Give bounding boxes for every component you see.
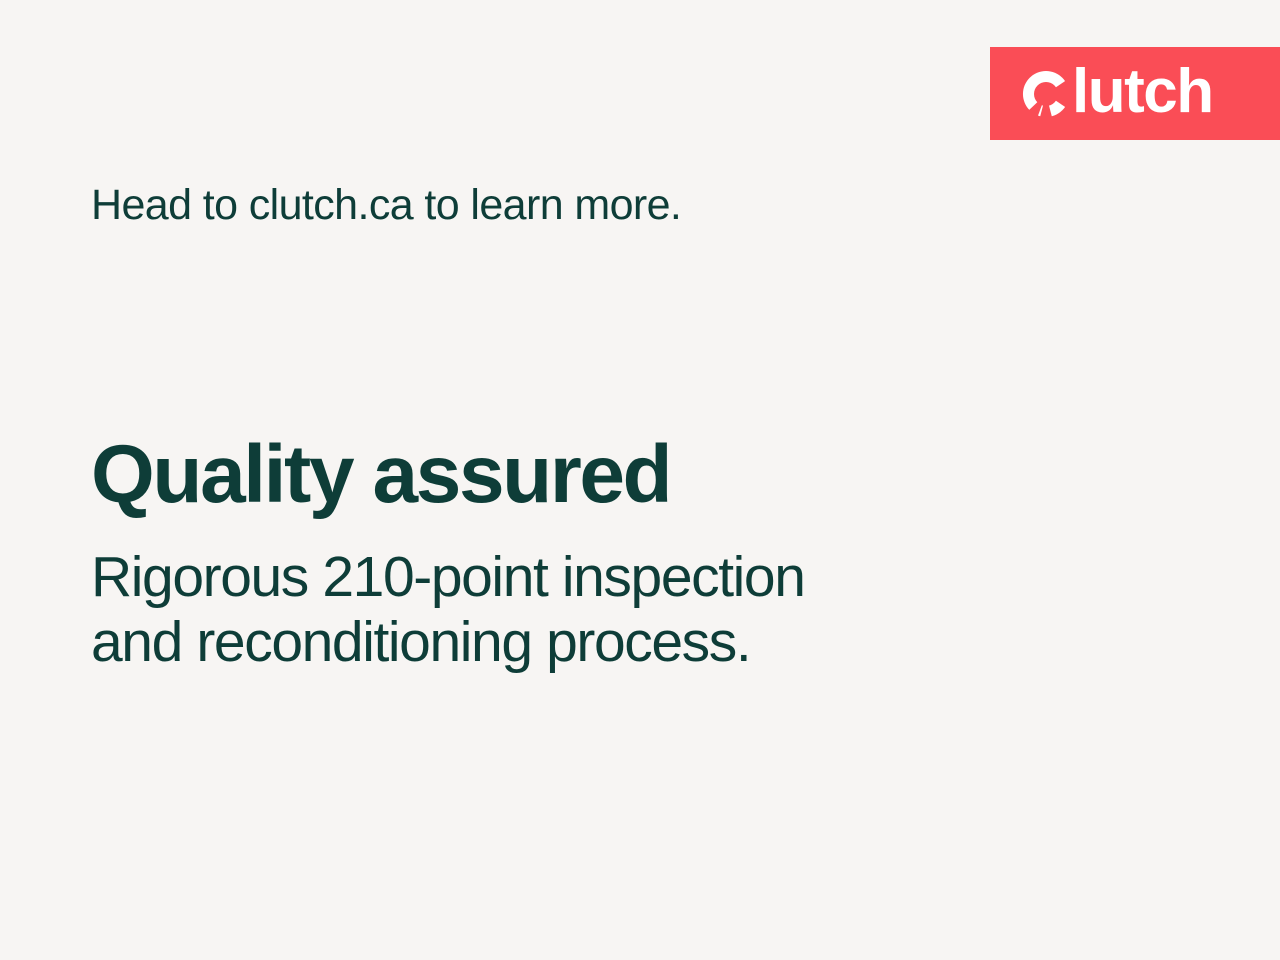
subcopy-line-1: Rigorous 210-point inspection bbox=[91, 545, 805, 610]
clutch-logo-text: lutch bbox=[1072, 61, 1213, 123]
page-title: Quality assured bbox=[91, 432, 670, 518]
kicker-text: Head to clutch.ca to learn more. bbox=[91, 181, 681, 230]
slide-canvas: lutch Head to clutch.ca to learn more. Q… bbox=[0, 0, 1280, 960]
clutch-c-mark-icon bbox=[1022, 70, 1070, 118]
subcopy-line-2: and reconditioning process. bbox=[91, 610, 805, 675]
subcopy-block: Rigorous 210-point inspection and recond… bbox=[91, 545, 805, 675]
clutch-wordmark: lutch bbox=[1022, 47, 1213, 140]
clutch-logo-block[interactable]: lutch bbox=[990, 47, 1280, 140]
